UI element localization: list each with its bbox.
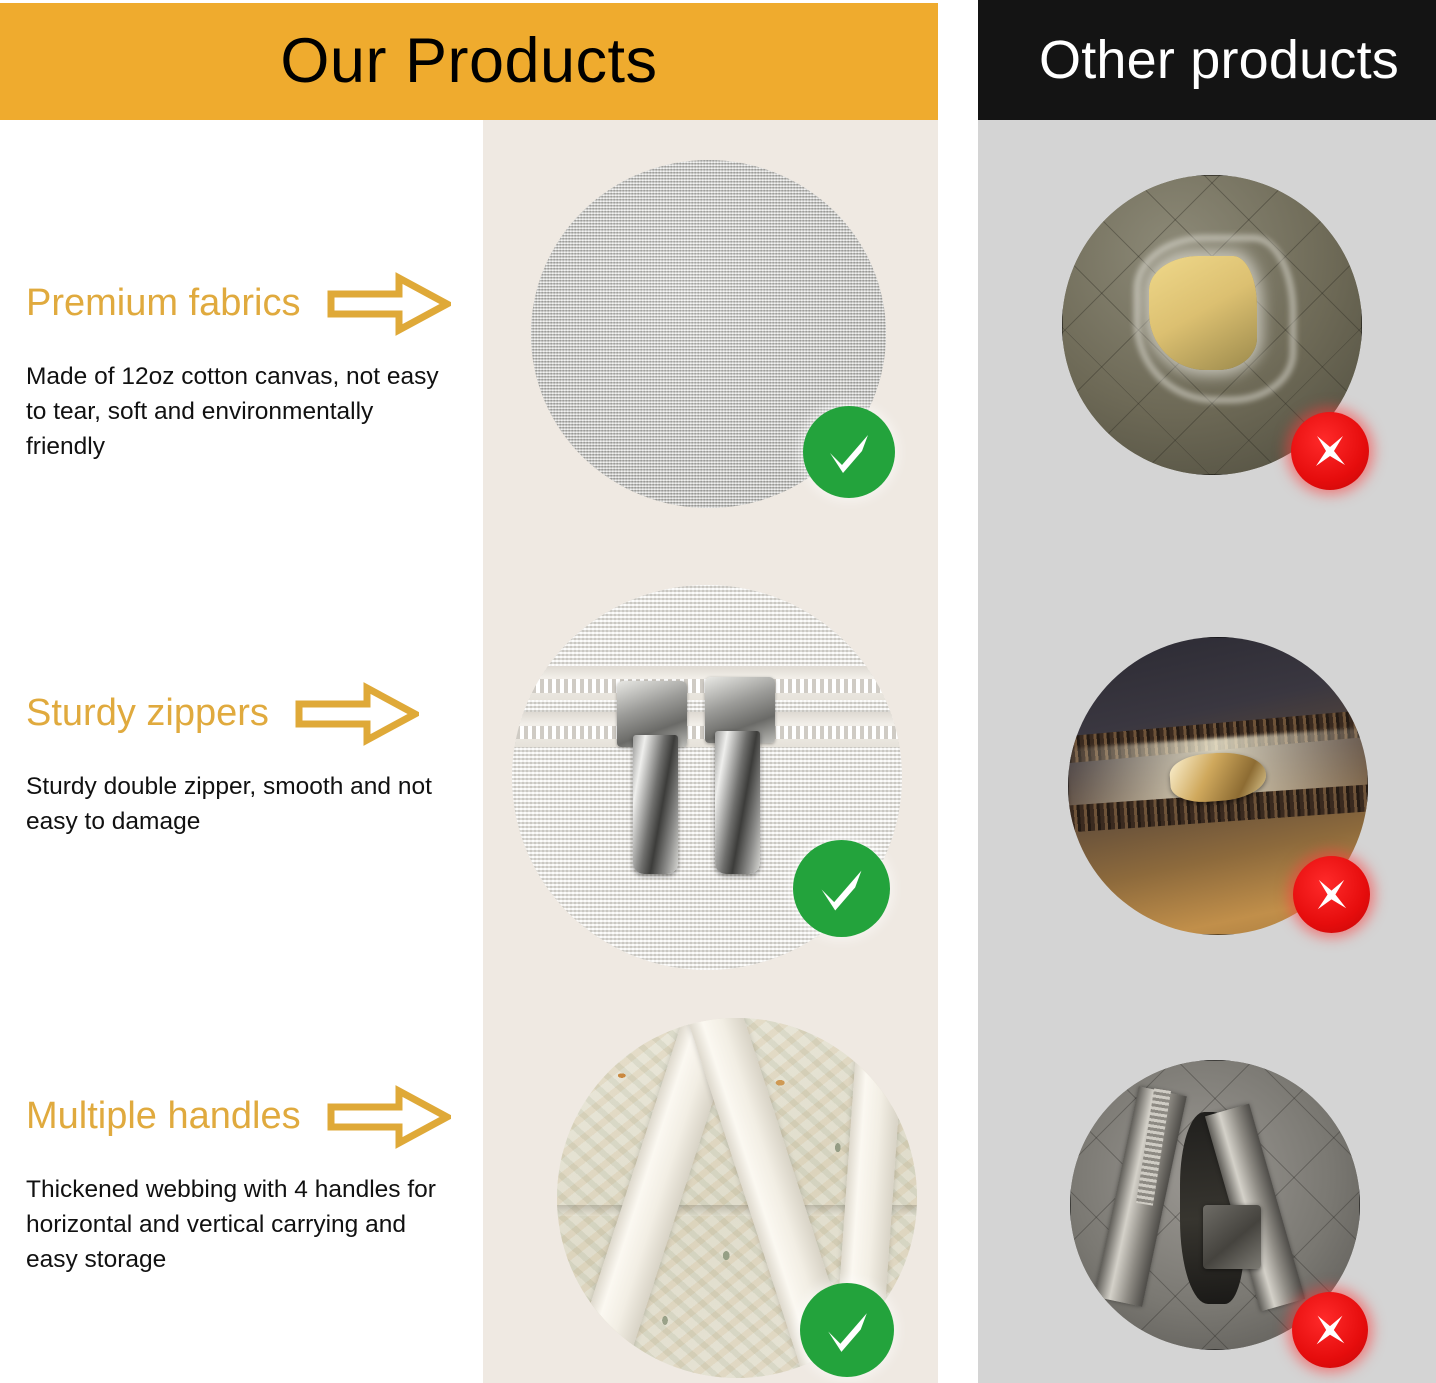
handle-buckle [1203,1205,1261,1269]
feature-block-sturdy-zippers: Sturdy zippers Sturdy double zipper, smo… [26,682,456,840]
cross-mark-icon [1308,871,1355,918]
fabric-hole [1149,256,1257,370]
feature-body-text: Made of 12oz cotton canvas, not easy to … [26,360,456,464]
check-mark-icon [818,421,880,483]
check-mark-icon [809,856,874,921]
arrow-right-outline-icon [327,1085,451,1149]
check-badge [803,406,895,498]
feature-body-text: Sturdy double zipper, smooth and not eas… [26,770,456,840]
arrow-right-outline-icon [295,682,419,746]
cross-badge [1291,412,1369,490]
feature-body-text: Thickened webbing with 4 handles for hor… [26,1173,456,1277]
feature-block-premium-fabrics: Premium fabrics Made of 12oz cotton canv… [26,272,456,464]
other-products-title: Other products [1015,33,1399,87]
check-mark-icon [816,1299,879,1362]
cross-badge [1292,1292,1368,1368]
cross-badge [1293,856,1370,933]
cross-mark-icon [1306,427,1354,475]
arrow-right-outline-icon [327,272,451,336]
feature-heading-row: Premium fabrics [26,272,456,336]
our-products-title: Our Products [280,30,657,93]
our-products-column: Our Products Premium fabrics Made of 12o… [0,0,938,1383]
other-products-header: Other products [978,0,1436,120]
check-badge [793,840,890,937]
cross-mark-icon [1307,1307,1353,1353]
our-products-header: Our Products [0,3,938,120]
feature-block-multiple-handles: Multiple handles Thickened webbing with … [26,1085,456,1277]
feature-heading-row: Sturdy zippers [26,682,456,746]
zipper-pull-tab [715,731,760,873]
feature-heading-label: Multiple handles [26,1097,301,1137]
feature-heading-row: Multiple handles [26,1085,456,1149]
zipper-pull-tab [633,735,678,874]
product-comparison-infographic: Our Products Premium fabrics Made of 12o… [0,0,1436,1383]
check-badge [800,1283,894,1377]
feature-heading-label: Sturdy zippers [26,694,269,734]
feature-heading-label: Premium fabrics [26,284,301,324]
